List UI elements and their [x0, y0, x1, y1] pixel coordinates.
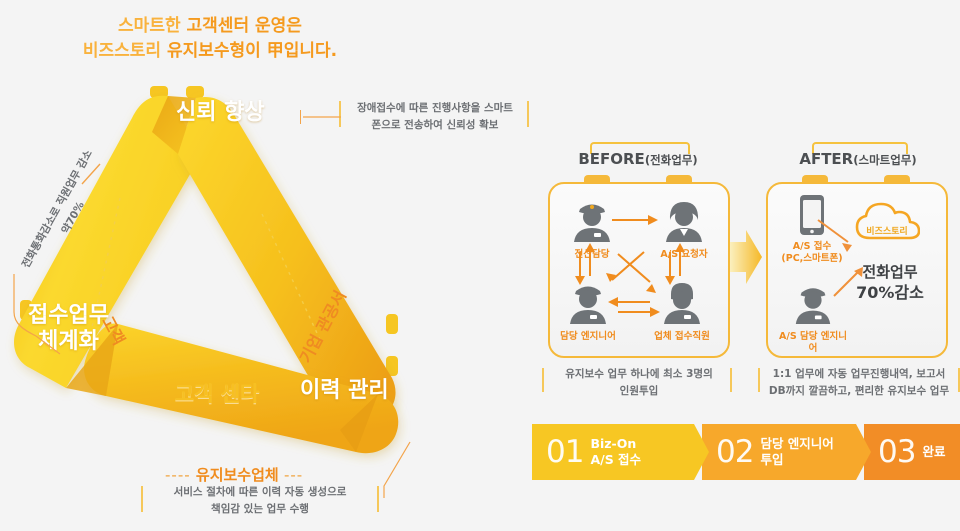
after-tab-left	[802, 175, 828, 184]
step-2-notch	[856, 424, 871, 480]
after-heading: AFTER(스마트업무)	[758, 150, 958, 168]
dash-right: ---	[284, 466, 303, 484]
before-after-section: BEFORE(전화업무) AFTER(스마트업무) 전산담당	[530, 150, 960, 390]
triangle-center-label: 고객 센타	[152, 378, 282, 408]
after-tab-right	[884, 175, 910, 184]
before-arrow-group	[550, 184, 728, 356]
title-line-2: 비즈스토리 유지보수형이 甲입니다.	[0, 39, 420, 64]
before-heading-sub: (전화업무)	[645, 153, 698, 167]
before-heading: BEFORE(전화업무)	[538, 150, 738, 168]
callout-left-tick	[78, 160, 108, 190]
callout-bottom-text: 서비스 절차에 따른 이력 자동 생성으로 책임감 있는 업무 수행	[140, 484, 380, 518]
step-item-2[interactable]: 02 담당 엔지니어 투입	[702, 424, 856, 480]
infographic-canvas: 스마트한 고객센터 운영은 비즈스토리 유지보수형이 甲입니다.	[0, 0, 960, 531]
title-smart: 스마트	[118, 16, 165, 36]
step-2-text: 담당 엔지니어 투입	[760, 436, 833, 467]
triangle-bottom-inner-label: ---- 유지보수업체 ---	[165, 464, 303, 485]
after-heading-main: AFTER	[799, 150, 853, 168]
callout-bottom-leader-line	[376, 440, 416, 500]
title-bizstory: 비즈스토리	[83, 41, 167, 61]
page-title: 스마트한 고객센터 운영은 비즈스토리 유지보수형이 甲입니다.	[0, 14, 420, 63]
step-1-number: 01	[546, 434, 583, 470]
callout-top-text: 장애접수에 따른 진행사항을 스마트 폰으로 전송하여 신뢰성 확보	[340, 100, 530, 134]
step-item-1[interactable]: 01 Biz-On A/S 접수	[532, 424, 694, 480]
triangle-right-label: 이력 관리	[300, 378, 389, 404]
title-line-1: 스마트한 고객센터 운영은	[0, 14, 420, 39]
step-1-notch	[694, 424, 709, 480]
after-caption: 1:1 업무에 자동 업무진행내역, 보고서 DB까지 깔끔하고, 편리한 유지…	[758, 366, 960, 400]
after-heading-sub: (스마트업무)	[853, 153, 916, 167]
before-card: 전산담당 A/S 요청자	[548, 182, 730, 358]
callout-left-leader-line	[4, 272, 64, 392]
dash-left: ----	[165, 466, 191, 484]
before-caption: 유지보수 업무 하나에 최소 3명의 인원투입	[544, 366, 734, 400]
step-item-3[interactable]: 03 완료	[864, 424, 960, 480]
step-3-number: 03	[878, 434, 915, 470]
callout-top-leader-line	[300, 110, 345, 124]
maintenance-vendor-label: 유지보수업체	[196, 466, 279, 484]
title-center-ops: 고객센터 운영은	[187, 16, 302, 36]
title-maintenance: 유지보수형이 甲입니다.	[167, 41, 337, 61]
step-2-number: 02	[716, 434, 753, 470]
before-tab-right	[666, 175, 692, 184]
before-tab-left	[584, 175, 610, 184]
after-card: A/S 접수 (PC,스마트폰) A/S 담당 엔지니어 비즈스토리	[766, 182, 948, 358]
after-arrow-group	[768, 184, 946, 356]
before-to-after-arrow-icon	[728, 228, 764, 286]
step-1-text: Biz-On A/S 접수	[590, 436, 641, 467]
triangle-top-label: 신뢰 향상	[176, 100, 265, 126]
title-han: 한	[165, 16, 187, 36]
step-3-text: 완료	[922, 444, 945, 460]
process-steps: 01 Biz-On A/S 접수 02 담당 엔지니어 투입 03 완료	[532, 424, 960, 480]
before-heading-main: BEFORE	[578, 150, 644, 168]
